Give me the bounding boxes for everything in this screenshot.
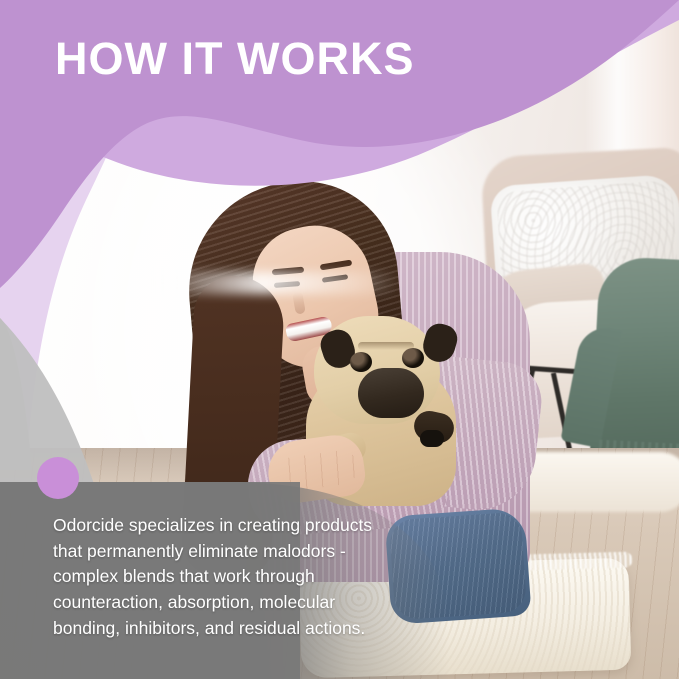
- page-title: HOW IT WORKS: [55, 36, 414, 81]
- promo-banner: HOW IT WORKS Odorcide specializes in cre…: [0, 0, 679, 679]
- graphic-overlay: HOW IT WORKS Odorcide specializes in cre…: [0, 0, 679, 679]
- purple-accent-dot: [37, 457, 79, 499]
- caption-text: Odorcide specializes in creating product…: [53, 513, 383, 642]
